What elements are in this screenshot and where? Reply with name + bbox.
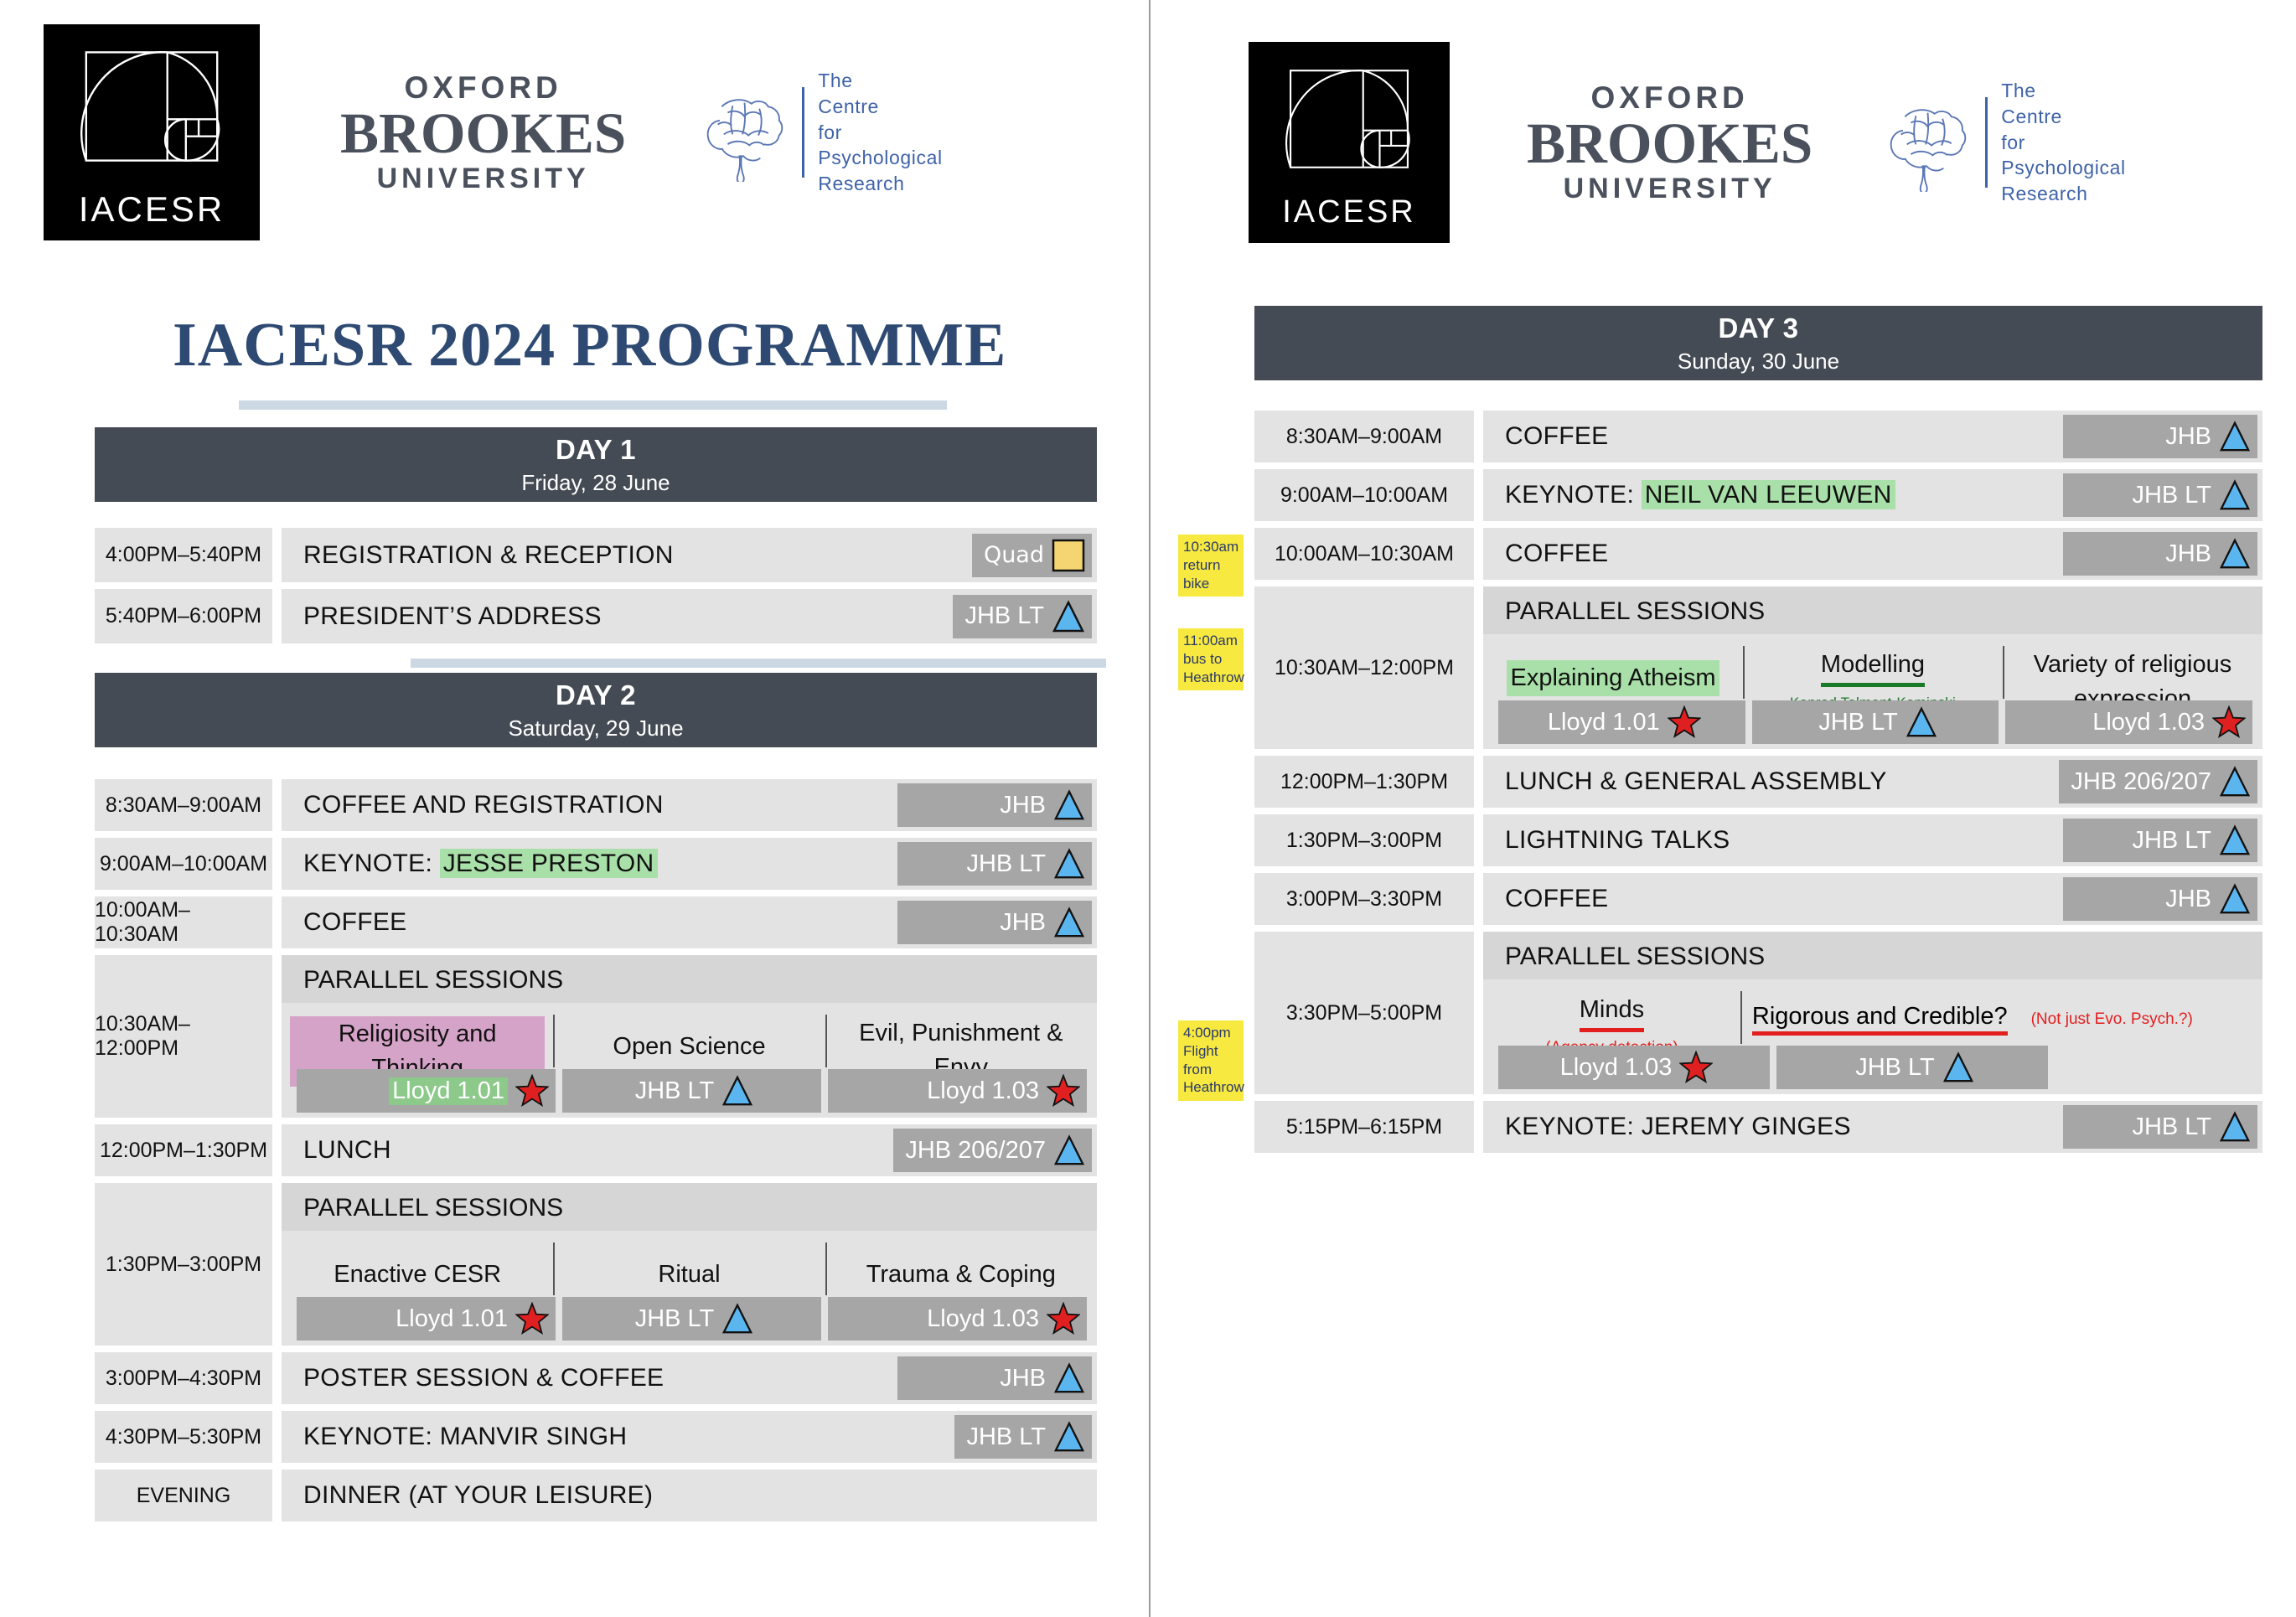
star-red-icon — [515, 1074, 549, 1108]
row-event: LIGHTNING TALKS — [1505, 826, 1730, 855]
triangle-blue-icon — [1053, 848, 1085, 880]
iacesr-wordmark: IACESR — [79, 189, 225, 230]
venue-label: JHB — [1000, 792, 1046, 819]
sticky-note-return-bike: 10:30am return bike — [1178, 535, 1244, 597]
cpr-text-block: The Centre for Psychological Research — [818, 68, 942, 197]
cpr-text-block-right: The Centre for Psychological Research — [2001, 78, 2125, 207]
venue-label: JHB — [2165, 540, 2211, 568]
row-time: 5:40PM–6:00PM — [95, 589, 272, 643]
day2-schedule: 8:30AM–9:00AM COFFEE AND REGISTRATION JH… — [95, 779, 1097, 1528]
table-row-parallel[interactable]: 10:30AM–12:00PM PARALLEL SESSIONS Explai… — [1254, 586, 2262, 749]
sticky-line: Heathrow — [1183, 1078, 1238, 1097]
row-time: 10:00AM–10:30AM — [1254, 528, 1474, 580]
row-event: DINNER (AT YOUR LEISURE) — [303, 1481, 653, 1510]
parallel-sessions-label: PARALLEL SESSIONS — [282, 1183, 1097, 1231]
venue-label: Lloyd 1.01 — [396, 1305, 508, 1333]
star-red-icon — [1047, 1074, 1080, 1108]
venue-badge[interactable]: Lloyd 1.01 — [1498, 700, 1745, 744]
triangle-blue-icon — [2219, 538, 2251, 570]
star-red-icon — [1668, 705, 1701, 739]
panel-divider — [1149, 0, 1151, 1617]
row-time: 10:00AM–10:30AM — [95, 896, 272, 948]
keynote-prefix: KEYNOTE: — [1505, 481, 1642, 509]
iacesr-logo-right: IACESR — [1249, 42, 1450, 243]
triangle-blue-icon — [2219, 479, 2251, 511]
star-red-icon — [1679, 1051, 1713, 1084]
cpr-line-research-right: Research — [2001, 181, 2125, 207]
star-red-icon — [515, 1302, 549, 1335]
row-time: 10:30AM–12:00PM — [1254, 586, 1474, 749]
table-row[interactable]: 8:30AM–9:00AM COFFEE AND REGISTRATION JH… — [95, 779, 1097, 831]
table-row-parallel[interactable]: 1:30PM–3:00PM PARALLEL SESSIONS Enactive… — [95, 1183, 1097, 1346]
venue-label: Lloyd 1.03 — [927, 1305, 1039, 1333]
row-event: KEYNOTE: JESSE PRESTON — [303, 850, 658, 878]
row-event: COFFEE — [303, 908, 406, 937]
row-event: LUNCH — [303, 1136, 391, 1165]
row-time: 10:30AM–12:00PM — [95, 955, 272, 1118]
row-event: KEYNOTE: NEIL VAN LEEUWEN — [1505, 481, 1895, 509]
row-body: PARALLEL SESSIONS Enactive CESR Ritual T… — [282, 1183, 1097, 1346]
triangle-blue-icon — [721, 1075, 753, 1107]
row-time: EVENING — [95, 1470, 272, 1521]
row-time: 8:30AM–9:00AM — [1254, 411, 1474, 462]
triangle-blue-icon — [2219, 824, 2251, 856]
venue-label: Lloyd 1.03 — [1560, 1054, 1673, 1082]
cpr-line-the: The — [818, 68, 942, 94]
venue-badge[interactable]: JHB — [897, 783, 1092, 827]
row-event: PRESIDENT’S ADDRESS — [303, 602, 602, 631]
venue-badge[interactable]: Lloyd 1.01 — [297, 1297, 556, 1341]
row-body: KEYNOTE: JESSE PRESTON JHB LT — [282, 838, 1097, 890]
row-event: COFFEE — [1505, 422, 1608, 451]
table-row[interactable]: 5:40PM–6:00PM PRESIDENT’S ADDRESS JHB LT — [95, 589, 1097, 643]
sticky-line: from — [1183, 1061, 1238, 1079]
triangle-blue-icon — [1053, 1421, 1085, 1453]
session-venue-cell: Lloyd 1.03 — [825, 1297, 1090, 1341]
sticky-line: 10:30am — [1183, 538, 1238, 556]
session-venue-cell: JHB LT — [1749, 700, 2003, 744]
page-title: IACESR 2024 PROGRAMME — [173, 310, 1006, 381]
session-venue-cell: JHB LT — [1773, 1046, 2051, 1089]
venue-label: JHB LT — [964, 602, 1044, 630]
cpr-line-centre: Centre — [818, 94, 942, 120]
venue-label: JHB 206/207 — [2071, 768, 2211, 796]
sticky-line: Heathrow — [1183, 669, 1238, 687]
venue-badge[interactable]: JHB — [897, 901, 1092, 944]
day1-title: DAY 1 — [556, 434, 636, 466]
venue-badge[interactable]: JHB LT — [1752, 700, 1999, 744]
session-venue-cell: JHB LT — [559, 1069, 825, 1113]
venue-label: JHB LT — [1818, 709, 1898, 736]
row-time: 1:30PM–3:00PM — [1254, 814, 1474, 866]
row-time: 1:30PM–3:00PM — [95, 1183, 272, 1346]
row-event: COFFEE — [1505, 885, 1608, 913]
venue-label: Lloyd 1.01 — [389, 1077, 508, 1105]
triangle-blue-icon — [1053, 1134, 1085, 1166]
venue-badge[interactable]: JHB 206/207 — [893, 1129, 1092, 1172]
table-row[interactable]: 12:00PM–1:30PM LUNCH & GENERAL ASSEMBLY … — [1254, 756, 2262, 808]
venue-badge[interactable]: JHB LT — [1776, 1046, 2048, 1089]
cpr-line-psychological-right: Psychological — [2001, 155, 2125, 181]
row-body: KEYNOTE: NEIL VAN LEEUWEN JHB LT — [1483, 469, 2262, 521]
venue-badge[interactable]: Lloyd 1.03 — [828, 1297, 1087, 1341]
cpr-line-the-right: The — [2001, 78, 2125, 104]
venue-badge[interactable]: JHB LT — [897, 842, 1092, 886]
venue-label: JHB LT — [635, 1305, 715, 1333]
venue-badge[interactable]: JHB — [2063, 877, 2257, 921]
day3-header: DAY 3 Sunday, 30 June — [1254, 306, 2262, 380]
venue-badge[interactable]: JHB LT — [562, 1297, 821, 1341]
day1-subtitle: Friday, 28 June — [521, 470, 670, 496]
venue-badge[interactable]: JHB LT — [2063, 473, 2257, 517]
table-row[interactable]: 12:00PM–1:30PM LUNCH JHB 206/207 — [95, 1124, 1097, 1176]
programme-poster: IACESR OXFORD BROOKES UNIVERSITY — [0, 0, 2296, 1617]
sticky-line: bus to — [1183, 650, 1238, 669]
row-body: COFFEE JHB — [1483, 528, 2262, 580]
venue-badge[interactable]: Lloyd 1.03 — [828, 1069, 1087, 1113]
row-time: 12:00PM–1:30PM — [95, 1124, 272, 1176]
row-time: 3:30PM–5:00PM — [1254, 932, 1474, 1094]
venue-badge[interactable]: JHB LT — [562, 1069, 821, 1113]
sticky-line: 4:00pm — [1183, 1024, 1238, 1042]
venue-badge[interactable]: JHB LT — [954, 1415, 1092, 1459]
day2-accent-rule — [411, 659, 1106, 668]
day3-schedule: 8:30AM–9:00AM COFFEE JHB 9:00AM–10:00AM … — [1254, 411, 2262, 1160]
venue-label: JHB 206/207 — [905, 1137, 1046, 1165]
iacesr-wordmark-right: IACESR — [1282, 194, 1415, 230]
triangle-blue-icon — [721, 1303, 753, 1335]
row-body: LUNCH JHB 206/207 — [282, 1124, 1097, 1176]
row-time: 9:00AM–10:00AM — [95, 838, 272, 890]
venue-label: JHB LT — [1855, 1054, 1935, 1082]
row-body: KEYNOTE: JEREMY GINGES JHB LT — [1483, 1101, 2262, 1153]
row-body: REGISTRATION & RECEPTION Quad — [282, 528, 1097, 582]
brookes-oxford-text: OXFORD — [404, 72, 561, 103]
day2-title: DAY 2 — [556, 679, 636, 711]
session-title-text: Minds — [1580, 993, 1644, 1032]
row-event: LUNCH & GENERAL ASSEMBLY — [1505, 767, 1887, 796]
session-venue-cell: Lloyd 1.01 — [293, 1297, 559, 1341]
session-title-text: Modelling — [1821, 648, 1925, 687]
venue-label: Lloyd 1.03 — [927, 1077, 1039, 1105]
keynote-prefix: KEYNOTE: — [303, 850, 440, 877]
brain-icon-right — [1881, 93, 1980, 192]
star-red-icon — [1047, 1302, 1080, 1335]
sticky-line: Flight — [1183, 1042, 1238, 1061]
session-venue-cell: Lloyd 1.03 — [1495, 1046, 1773, 1089]
table-row-parallel[interactable]: 10:30AM–12:00PM PARALLEL SESSIONS Religi… — [95, 955, 1097, 1118]
row-time: 8:30AM–9:00AM — [95, 779, 272, 831]
session-title-text: Explaining Atheism — [1507, 660, 1719, 696]
keynote-speaker: NEIL VAN LEEUWEN — [1642, 480, 1895, 509]
row-body: PARALLEL SESSIONS Minds (Agency detectio… — [1483, 932, 2262, 1094]
day2-header: DAY 2 Saturday, 29 June — [95, 673, 1097, 747]
row-body: PRESIDENT’S ADDRESS JHB LT — [282, 589, 1097, 643]
day1-header: DAY 1 Friday, 28 June — [95, 427, 1097, 502]
table-row[interactable]: 4:00PM–5:40PM REGISTRATION & RECEPTION Q… — [95, 528, 1097, 582]
row-body: LIGHTNING TALKS JHB LT — [1483, 814, 2262, 866]
square-yellow-icon — [1052, 539, 1085, 572]
row-event: POSTER SESSION & COFFEE — [303, 1364, 664, 1392]
venue-label: JHB LT — [2132, 827, 2211, 855]
brookes-university-text-right: UNIVERSITY — [1564, 174, 1776, 203]
triangle-blue-icon — [2219, 1111, 2251, 1143]
venue-label: Quad — [984, 542, 1044, 568]
venue-badge[interactable]: JHB LT — [953, 595, 1092, 638]
venue-badge[interactable]: JHB LT — [2063, 819, 2257, 862]
venue-badge[interactable]: JHB — [2063, 415, 2257, 458]
row-time: 3:00PM–4:30PM — [95, 1352, 272, 1404]
parallel-sessions-label: PARALLEL SESSIONS — [282, 955, 1097, 1003]
venue-badge[interactable]: Quad — [972, 534, 1092, 577]
session-venue-cell: Lloyd 1.03 — [825, 1069, 1090, 1113]
golden-spiral-icon — [80, 35, 223, 178]
triangle-blue-icon — [1052, 600, 1085, 633]
right-logo-row: IACESR OXFORD BROOKES UNIVERSITY — [1249, 42, 2254, 243]
row-event: COFFEE — [1505, 540, 1608, 568]
venue-label: JHB LT — [2132, 1113, 2211, 1141]
venue-label: JHB LT — [2132, 482, 2211, 509]
venue-label: JHB — [1000, 1365, 1046, 1392]
session-venue-cell: Lloyd 1.01 — [1495, 700, 1749, 744]
triangle-blue-icon — [2219, 421, 2251, 452]
venue-label: JHB — [2165, 423, 2211, 451]
row-body: POSTER SESSION & COFFEE JHB — [282, 1352, 1097, 1404]
parallel-sessions-label: PARALLEL SESSIONS — [1483, 586, 2262, 634]
session-venue-cell: JHB LT — [559, 1297, 825, 1341]
venue-badge[interactable]: JHB — [2063, 532, 2257, 576]
venue-badge[interactable]: JHB — [897, 1356, 1092, 1400]
left-logo-row: IACESR OXFORD BROOKES UNIVERSITY — [44, 23, 1049, 241]
row-event: KEYNOTE: MANVIR SINGH — [303, 1423, 627, 1451]
venue-badge[interactable]: Lloyd 1.03 — [1498, 1046, 1770, 1089]
cpr-line-for-right: for — [2001, 130, 2125, 156]
row-body: COFFEE JHB — [1483, 411, 2262, 462]
row-time: 9:00AM–10:00AM — [1254, 469, 1474, 521]
oxford-brookes-logo: OXFORD BROOKES UNIVERSITY — [340, 72, 626, 193]
venue-label: JHB LT — [966, 850, 1046, 878]
venue-label: Lloyd 1.01 — [1548, 709, 1660, 736]
venue-label: JHB LT — [635, 1077, 715, 1105]
cpr-line-for: for — [818, 120, 942, 146]
day3-title: DAY 3 — [1718, 313, 1798, 344]
row-time: 4:00PM–5:40PM — [95, 528, 272, 582]
venue-badge[interactable]: Lloyd 1.01 — [297, 1069, 556, 1113]
iacesr-logo: IACESR — [44, 24, 260, 240]
brookes-brookes-text: BROOKES — [340, 105, 626, 163]
table-row[interactable]: 4:30PM–5:30PM KEYNOTE: MANVIR SINGH JHB … — [95, 1411, 1097, 1463]
keynote-speaker: JESSE PRESTON — [440, 849, 658, 878]
day1-schedule: 4:00PM–5:40PM REGISTRATION & RECEPTION Q… — [95, 528, 1097, 650]
table-row[interactable]: 9:00AM–10:00AM KEYNOTE: JESSE PRESTON JH… — [95, 838, 1097, 890]
day2-subtitle: Saturday, 29 June — [508, 716, 683, 741]
row-body: COFFEE JHB — [282, 896, 1097, 948]
row-body: COFFEE JHB — [1483, 873, 2262, 925]
session-side-note: (Not just Evo. Psych.?) — [2031, 1010, 2193, 1029]
brain-icon — [698, 83, 797, 182]
cpr-line-psychological: Psychological — [818, 145, 942, 171]
centre-psych-research-logo-right: The Centre for Psychological Research — [1881, 78, 2125, 207]
row-body: COFFEE AND REGISTRATION JHB — [282, 779, 1097, 831]
triangle-blue-icon — [2219, 883, 2251, 915]
oxford-brookes-logo-right: OXFORD BROOKES UNIVERSITY — [1527, 82, 1812, 203]
star-red-icon — [2212, 705, 2246, 739]
venue-label: JHB — [2165, 886, 2211, 913]
parallel-sessions-label: PARALLEL SESSIONS — [1483, 932, 2262, 979]
row-body: PARALLEL SESSIONS Religiosity and Thinki… — [282, 955, 1097, 1118]
sticky-note-bus-heathrow: 11:00am bus to Heathrow — [1178, 628, 1244, 690]
table-row[interactable]: 9:00AM–10:00AM KEYNOTE: NEIL VAN LEEUWEN… — [1254, 469, 2262, 521]
session-title-text: Rigorous and Credible? — [1752, 1003, 2008, 1036]
cpr-divider-rule — [802, 87, 804, 178]
table-row[interactable]: 10:00AM–10:30AM COFFEE JHB — [1254, 528, 2262, 580]
row-event: COFFEE AND REGISTRATION — [303, 791, 664, 819]
venue-label: JHB — [1000, 909, 1046, 937]
row-event: KEYNOTE: JEREMY GINGES — [1505, 1113, 1851, 1141]
brookes-brookes-text-right: BROOKES — [1527, 115, 1812, 173]
triangle-blue-icon — [1906, 706, 1937, 738]
table-row[interactable]: 8:30AM–9:00AM COFFEE JHB — [1254, 411, 2262, 462]
sticky-line: return bike — [1183, 556, 1238, 593]
table-row[interactable]: 3:00PM–3:30PM COFFEE JHB — [1254, 873, 2262, 925]
row-time: 3:00PM–3:30PM — [1254, 873, 1474, 925]
table-row[interactable]: 10:00AM–10:30AM COFFEE JHB — [95, 896, 1097, 948]
row-body: KEYNOTE: MANVIR SINGH JHB LT — [282, 1411, 1097, 1463]
day3-subtitle: Sunday, 30 June — [1678, 349, 1839, 375]
table-row[interactable]: 5:15PM–6:15PM KEYNOTE: JEREMY GINGES JHB… — [1254, 1101, 2262, 1153]
row-body: LUNCH & GENERAL ASSEMBLY JHB 206/207 — [1483, 756, 2262, 808]
triangle-blue-icon — [1942, 1051, 1974, 1083]
row-time: 12:00PM–1:30PM — [1254, 756, 1474, 808]
triangle-blue-icon — [1053, 907, 1085, 938]
table-row[interactable]: EVENING DINNER (AT YOUR LEISURE) — [95, 1470, 1097, 1521]
row-body: PARALLEL SESSIONS Explaining Atheism Mod… — [1483, 586, 2262, 749]
cpr-line-centre-right: Centre — [2001, 104, 2125, 130]
venue-badge[interactable]: JHB 206/207 — [2059, 760, 2257, 803]
row-time: 5:15PM–6:15PM — [1254, 1101, 1474, 1153]
brookes-oxford-text-right: OXFORD — [1590, 82, 1748, 113]
brookes-university-text: UNIVERSITY — [377, 164, 590, 193]
title-accent-rule — [239, 400, 947, 410]
table-row-parallel[interactable]: 3:30PM–5:00PM PARALLEL SESSIONS Minds (A… — [1254, 932, 2262, 1094]
session-venue-cell: Lloyd 1.01 — [293, 1069, 559, 1113]
sticky-note-flight-heathrow: 4:00pm Flight from Heathrow — [1178, 1020, 1244, 1101]
venue-badge[interactable]: JHB LT — [2063, 1105, 2257, 1149]
venue-label: JHB LT — [966, 1423, 1046, 1451]
centre-psych-research-logo: The Centre for Psychological Research — [698, 68, 942, 197]
triangle-blue-icon — [2219, 766, 2251, 798]
cpr-line-research: Research — [818, 171, 942, 197]
row-event: REGISTRATION & RECEPTION — [303, 541, 674, 570]
table-row[interactable]: 3:00PM–4:30PM POSTER SESSION & COFFEE JH… — [95, 1352, 1097, 1404]
cpr-divider-rule-right — [1985, 97, 1988, 188]
table-row[interactable]: 1:30PM–3:00PM LIGHTNING TALKS JHB LT — [1254, 814, 2262, 866]
row-body: DINNER (AT YOUR LEISURE) — [282, 1470, 1097, 1521]
venue-label: Lloyd 1.03 — [2092, 709, 2205, 736]
row-time: 4:30PM–5:30PM — [95, 1411, 272, 1463]
venue-badge[interactable]: Lloyd 1.03 — [2005, 700, 2252, 744]
golden-spiral-icon-right — [1285, 55, 1413, 183]
triangle-blue-icon — [1053, 789, 1085, 821]
session-venue-cell: Lloyd 1.03 — [2002, 700, 2256, 744]
sticky-line: 11:00am — [1183, 632, 1238, 650]
triangle-blue-icon — [1053, 1362, 1085, 1394]
